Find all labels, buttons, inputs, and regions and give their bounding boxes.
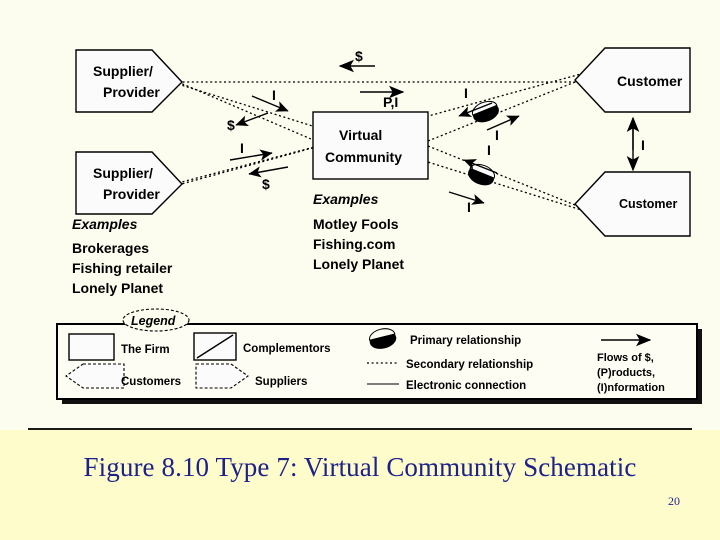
legend-label-complementors: Complementors (243, 343, 331, 355)
figure-caption: Figure 8.10 Type 7: Virtual Community Sc… (0, 452, 720, 483)
page-number: 20 (0, 494, 680, 509)
node-customer-bottom[interactable]: Customer (575, 172, 690, 236)
flow-between-customers: I (633, 118, 645, 170)
legend-label-suppliers: Suppliers (255, 376, 307, 388)
examples-center-item-2: Lonely Planet (313, 256, 404, 272)
legend-label-primary-relationship: Primary relationship (410, 335, 521, 347)
examples-center-heading: Examples (313, 191, 379, 207)
virtual-community-label-1: Virtual (339, 127, 382, 143)
flow-label-supplier-bottom-money: $ (262, 176, 270, 192)
examples-left-item-0: Brokerages (72, 240, 149, 256)
customer-bottom-label: Customer (619, 197, 677, 211)
flow-label-customer-top-in: I (464, 85, 468, 101)
legend-title-bubble: Legend (123, 309, 189, 331)
legend-title: Legend (131, 314, 176, 328)
examples-center: Examples Motley Fools Fishing.com Lonely… (313, 191, 404, 272)
examples-center-item-0: Motley Fools (313, 216, 399, 232)
flow-label-supplier-top-money: $ (227, 117, 235, 133)
caption-background (0, 430, 720, 540)
horizontal-divider (28, 428, 692, 430)
flow-supplier-top-money: $ (227, 113, 268, 133)
legend-label-customers: Customers (121, 376, 181, 388)
connector-center-customer-bottom (428, 146, 575, 205)
flow-supplier-bottom-info: I (230, 140, 272, 160)
slide-root: Supplier/ Provider Supplier/ Provider Vi… (0, 0, 720, 540)
flow-top-money: $ (340, 48, 375, 66)
legend-flow-line-2: (P)roducts, (597, 367, 655, 379)
flow-label-supplier-top-info: I (272, 87, 276, 103)
connector-center-customer-top (428, 82, 575, 141)
supplier-bottom-label-1: Supplier/ (93, 165, 153, 181)
supplier-top-label-2: Provider (103, 84, 160, 100)
legend-label-the-firm: The Firm (121, 344, 170, 356)
node-supplier-provider-top[interactable]: Supplier/ Provider (76, 50, 182, 112)
flow-label-customer-bottom-in: I (467, 199, 471, 215)
customer-top-label: Customer (617, 73, 683, 89)
examples-center-item-1: Fishing.com (313, 236, 395, 252)
legend-flow-line-3: (I)nformation (597, 382, 665, 394)
examples-left-heading: Examples (72, 216, 138, 232)
legend-label-secondary-relationship: Secondary relationship (406, 359, 533, 371)
node-customer-top[interactable]: Customer (575, 48, 690, 112)
primary-relationship-marker-top (470, 98, 501, 125)
flow-supplier-top-info: I (252, 87, 288, 111)
flow-supplier-bottom-money: $ (249, 167, 288, 192)
node-virtual-community[interactable]: Virtual Community (313, 112, 428, 179)
legend-panel: Legend The Firm Complementors Customers (57, 309, 702, 404)
examples-left-item-2: Lonely Planet (72, 280, 163, 296)
flow-label-customer-mid-info: I (487, 142, 491, 158)
flow-top-products: P,I (360, 92, 403, 110)
examples-left: Examples Brokerages Fishing retailer Lon… (72, 216, 173, 296)
examples-left-item-1: Fishing retailer (72, 260, 173, 276)
virtual-community-label-2: Community (325, 149, 402, 165)
flow-customer-bottom-out: I (449, 192, 484, 215)
flow-label-top-products: P,I (383, 94, 398, 110)
flow-label-customer-top-out: I (495, 127, 499, 143)
node-supplier-provider-bottom[interactable]: Supplier/ Provider (76, 152, 182, 214)
flow-label-between-customers: I (641, 137, 645, 153)
connector-supplier-bottom-center (178, 146, 318, 183)
supplier-top-label-1: Supplier/ (93, 63, 153, 79)
primary-relationship-marker-bottom (466, 161, 497, 188)
connector-supplier-top-center (178, 82, 318, 142)
virtual-community-schematic: Supplier/ Provider Supplier/ Provider Vi… (0, 0, 720, 420)
supplier-bottom-label-2: Provider (103, 186, 160, 202)
flow-label-top-money: $ (355, 48, 363, 64)
legend-flow-line-1: Flows of $, (597, 352, 654, 364)
flow-customer-top-out: I (487, 116, 519, 143)
legend-label-electronic-connection: Electronic connection (406, 380, 526, 392)
flow-label-supplier-bottom-info: I (240, 140, 244, 156)
